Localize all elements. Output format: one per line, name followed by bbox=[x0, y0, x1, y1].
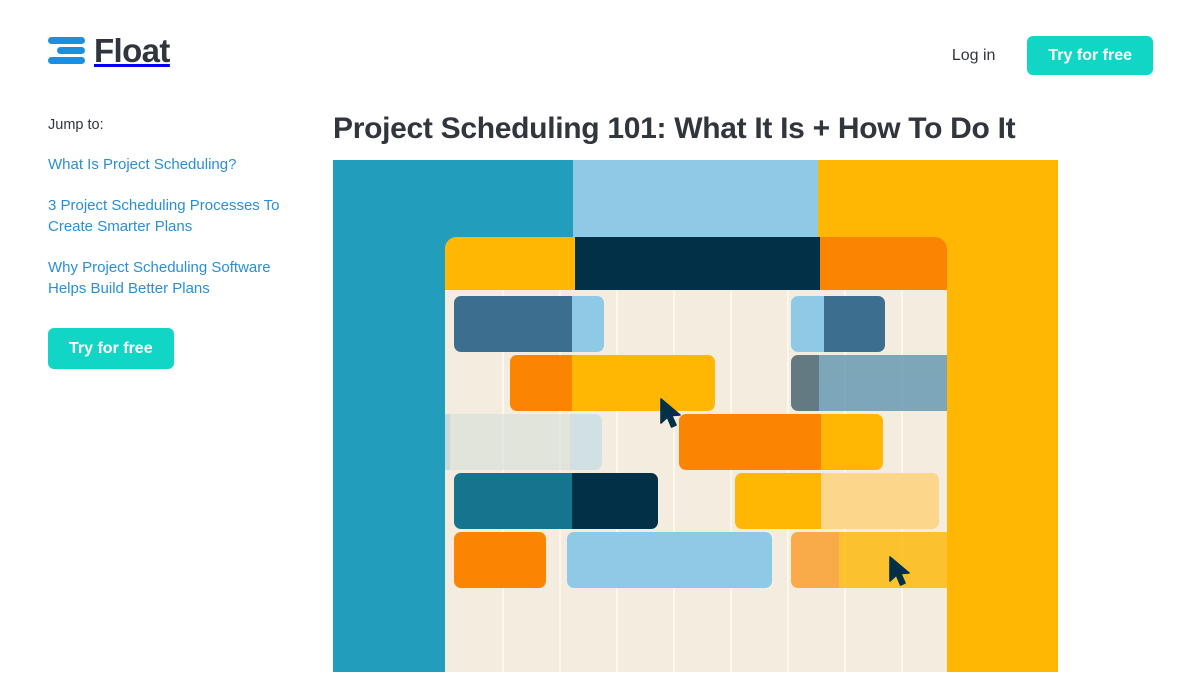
brand-logo[interactable]: Float bbox=[48, 34, 170, 67]
gantt-card-header bbox=[445, 237, 947, 290]
bar-segment-2 bbox=[824, 296, 885, 352]
bar-segment-2 bbox=[450, 414, 570, 470]
bar-segment-1 bbox=[791, 296, 824, 352]
sidebar-try-for-free-button[interactable]: Try for free bbox=[48, 328, 174, 369]
bar-segment-2 bbox=[572, 355, 715, 411]
hero-illustration bbox=[333, 160, 1058, 672]
sidebar-item-what-is-project-scheduling[interactable]: What Is Project Scheduling? bbox=[48, 154, 304, 175]
bar-segment-2 bbox=[821, 414, 883, 470]
bar-segment-1 bbox=[510, 355, 572, 411]
bar-segment-1 bbox=[454, 296, 572, 352]
bar-segment-1 bbox=[567, 532, 772, 588]
bar-segment-2 bbox=[821, 473, 939, 529]
bar-segment-2 bbox=[572, 473, 658, 529]
header-try-for-free-button[interactable]: Try for free bbox=[1027, 36, 1153, 75]
gantt-card-body bbox=[445, 290, 947, 672]
header-nav: Log in Try for free bbox=[946, 36, 1153, 75]
pointer-cursor-bar-2-icon bbox=[659, 398, 685, 430]
gantt-gridline-5 bbox=[730, 290, 732, 672]
task-row-5-bar-2[interactable] bbox=[735, 473, 939, 529]
bar-segment-1 bbox=[679, 414, 821, 470]
task-row-5-bar-1[interactable] bbox=[454, 473, 658, 529]
bar-segment-1 bbox=[791, 532, 839, 588]
sidebar-item-scheduling-processes[interactable]: 3 Project Scheduling Processes To Create… bbox=[48, 195, 304, 237]
task-row-6-bar-2[interactable] bbox=[567, 532, 772, 588]
bar-segment-1 bbox=[735, 473, 821, 529]
task-row-1-bar-1[interactable] bbox=[454, 296, 604, 352]
bar-segment-2 bbox=[819, 355, 947, 411]
page-title: Project Scheduling 101: What It Is + How… bbox=[333, 110, 1015, 148]
bar-segment-3 bbox=[570, 414, 602, 470]
gantt-header-segment-1 bbox=[445, 237, 575, 290]
task-row-1-bar-2[interactable] bbox=[791, 296, 885, 352]
jump-to-label: Jump to: bbox=[48, 117, 318, 133]
bar-segment-1 bbox=[454, 473, 572, 529]
brand-name: Float bbox=[94, 34, 170, 67]
gantt-card bbox=[445, 237, 947, 672]
task-row-4-bar-1[interactable] bbox=[679, 414, 883, 470]
pointer-cursor-bar-6-icon bbox=[888, 556, 914, 588]
site-header: Float Log in Try for free bbox=[0, 0, 1200, 104]
gantt-header-segment-2 bbox=[575, 237, 820, 290]
task-row-2-bar-2[interactable] bbox=[791, 355, 947, 411]
task-row-3-dragging-bar-1[interactable] bbox=[445, 414, 602, 470]
sidebar-item-scheduling-software[interactable]: Why Project Scheduling Software Helps Bu… bbox=[48, 257, 304, 299]
gantt-header-segment-3 bbox=[820, 237, 947, 290]
sidebar-jump-to: Jump to: What Is Project Scheduling? 3 P… bbox=[48, 117, 318, 369]
float-logo-bars-icon bbox=[48, 35, 85, 66]
login-link[interactable]: Log in bbox=[946, 43, 1002, 69]
bar-segment-1 bbox=[454, 532, 546, 588]
task-row-6-bar-1[interactable] bbox=[454, 532, 546, 588]
bar-segment-1 bbox=[791, 355, 819, 411]
page-root: Float Log in Try for free Jump to: What … bbox=[0, 0, 1200, 698]
gantt-gridline-4 bbox=[673, 290, 675, 672]
bar-segment-2 bbox=[572, 296, 604, 352]
task-row-6-bar-3[interactable] bbox=[791, 532, 947, 588]
